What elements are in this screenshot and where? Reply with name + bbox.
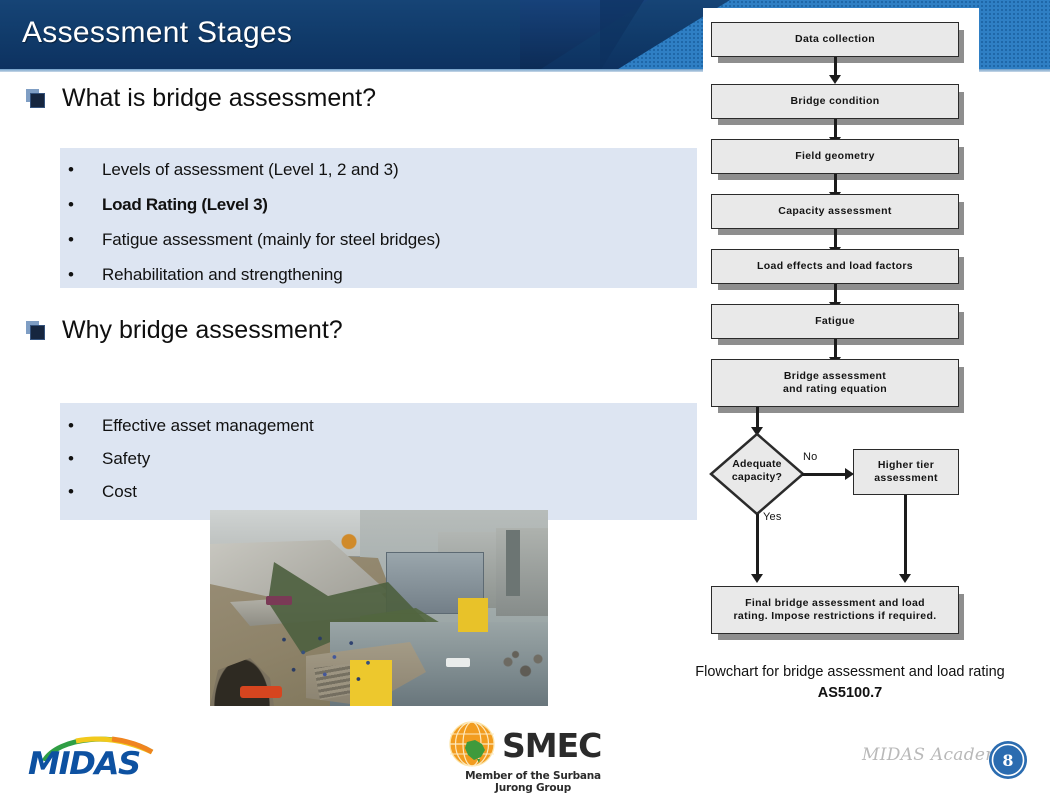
flow-connector-yes	[756, 514, 759, 576]
list-bullet-dot: •	[68, 266, 102, 283]
photo-rubble	[498, 650, 548, 680]
section-heading-2: Why bridge assessment?	[26, 316, 343, 345]
flow-box-final-line1: Final bridge assessment and load	[745, 597, 925, 610]
flow-box-higher-tier-line2: assessment	[874, 472, 938, 485]
bridge-collapse-photo	[210, 510, 548, 706]
flow-connector	[834, 229, 837, 249]
smec-logo-text: SMEC	[502, 726, 601, 765]
flow-box-data-collection: Data collection	[711, 22, 959, 57]
section-heading-2-label: Why bridge assessment?	[62, 316, 343, 345]
flow-decision-line1: Adequate	[709, 458, 805, 471]
smec-globe-icon	[448, 720, 496, 768]
list-bullet-dot: •	[68, 231, 102, 248]
page-number: 8	[988, 740, 1028, 780]
midas-logo-text: MIDAS	[28, 746, 140, 782]
flow-box-higher-tier-line1: Higher tier	[878, 459, 934, 472]
midas-logo: MIDAS	[28, 735, 158, 777]
flow-box-fatigue: Fatigue	[711, 304, 959, 339]
list-item: • Cost	[68, 483, 688, 500]
flow-connector	[834, 284, 837, 304]
flow-box-final-rating: Final bridge assessment and load rating.…	[711, 586, 959, 634]
flow-arrowhead	[829, 75, 841, 84]
flowchart-caption-standard: AS5100.7	[660, 683, 1040, 704]
flow-box-capacity-assessment: Capacity assessment	[711, 194, 959, 229]
page-number-badge: 8	[988, 740, 1028, 780]
flow-edge-label-no: No	[803, 451, 817, 463]
list-item-label: Levels of assessment (Level 1, 2 and 3)	[102, 161, 399, 178]
flowchart-caption-line1: Flowchart for bridge assessment and load…	[660, 662, 1040, 683]
photo-lock-gate	[506, 530, 520, 596]
list-item: • Load Rating (Level 3)	[68, 196, 688, 213]
flow-box-final-line2: rating. Impose restrictions if required.	[733, 610, 936, 623]
list-item-label: Fatigue assessment (mainly for steel bri…	[102, 231, 440, 248]
flowchart-caption: Flowchart for bridge assessment and load…	[660, 662, 1040, 704]
bullet-list-2: • Effective asset management • Safety • …	[68, 409, 688, 516]
list-item: • Safety	[68, 450, 688, 467]
flow-decision-label: Adequate capacity?	[709, 458, 805, 484]
smec-logo: SMEC Member of the Surbana Jurong Group	[448, 718, 618, 784]
flowchart: Data collection Bridge condition Field g…	[703, 8, 979, 651]
list-item-label: Load Rating (Level 3)	[102, 196, 268, 213]
list-item-label: Cost	[102, 483, 137, 500]
list-item: • Levels of assessment (Level 1, 2 and 3…	[68, 161, 688, 178]
flow-box-field-geometry: Field geometry	[711, 139, 959, 174]
list-bullet-dot: •	[68, 483, 102, 500]
page-title: Assessment Stages	[22, 16, 292, 50]
photo-rescue-workers	[272, 628, 392, 686]
flow-box-load-effects: Load effects and load factors	[711, 249, 959, 284]
flow-connector	[834, 57, 837, 77]
photo-equipment	[322, 526, 472, 552]
list-bullet-dot: •	[68, 161, 102, 178]
flow-arrowhead-higher-tier	[899, 574, 911, 583]
flow-arrowhead-yes	[751, 574, 763, 583]
section-heading-1: What is bridge assessment?	[26, 84, 376, 113]
photo-lock-structure	[496, 528, 548, 616]
flow-connector-higher-tier	[904, 495, 907, 576]
flow-connector-no	[802, 473, 848, 476]
flow-decision-line2: capacity?	[709, 471, 805, 484]
flow-connector	[834, 119, 837, 139]
list-item: • Fatigue assessment (mainly for steel b…	[68, 231, 688, 248]
bullet-list-1: • Levels of assessment (Level 1, 2 and 3…	[68, 153, 688, 301]
square-bullet-icon	[26, 89, 46, 109]
list-bullet-dot: •	[68, 450, 102, 467]
list-item: • Rehabilitation and strengthening	[68, 266, 688, 283]
smec-tagline: Member of the Surbana Jurong Group	[448, 770, 618, 794]
list-item: • Effective asset management	[68, 417, 688, 434]
flow-box-bridge-assessment-line1: Bridge assessment	[784, 370, 886, 383]
photo-submerged-vehicle	[446, 658, 470, 667]
list-item-label: Rehabilitation and strengthening	[102, 266, 343, 283]
section-heading-1-label: What is bridge assessment?	[62, 84, 376, 113]
flow-connector	[756, 407, 759, 429]
flow-box-bridge-assessment-line2: and rating equation	[783, 383, 887, 396]
list-bullet-dot: •	[68, 417, 102, 434]
flow-edge-label-yes: Yes	[763, 511, 782, 523]
flow-box-higher-tier: Higher tier assessment	[853, 449, 959, 495]
flow-connector	[834, 339, 837, 359]
flow-decision-adequate-capacity: Adequate capacity?	[709, 432, 805, 516]
list-item-label: Safety	[102, 450, 150, 467]
flow-connector	[834, 174, 837, 194]
photo-stranded-vehicle	[266, 596, 292, 605]
list-bullet-dot: •	[68, 196, 102, 213]
photo-yellow-marker-upper	[458, 598, 488, 632]
slide-root: Assessment Stages What is bridge assessm…	[0, 0, 1050, 789]
flow-box-bridge-condition: Bridge condition	[711, 84, 959, 119]
photo-rescue-boat	[240, 686, 282, 698]
flow-box-bridge-assessment: Bridge assessment and rating equation	[711, 359, 959, 407]
square-bullet-icon	[26, 321, 46, 341]
list-item-label: Effective asset management	[102, 417, 314, 434]
